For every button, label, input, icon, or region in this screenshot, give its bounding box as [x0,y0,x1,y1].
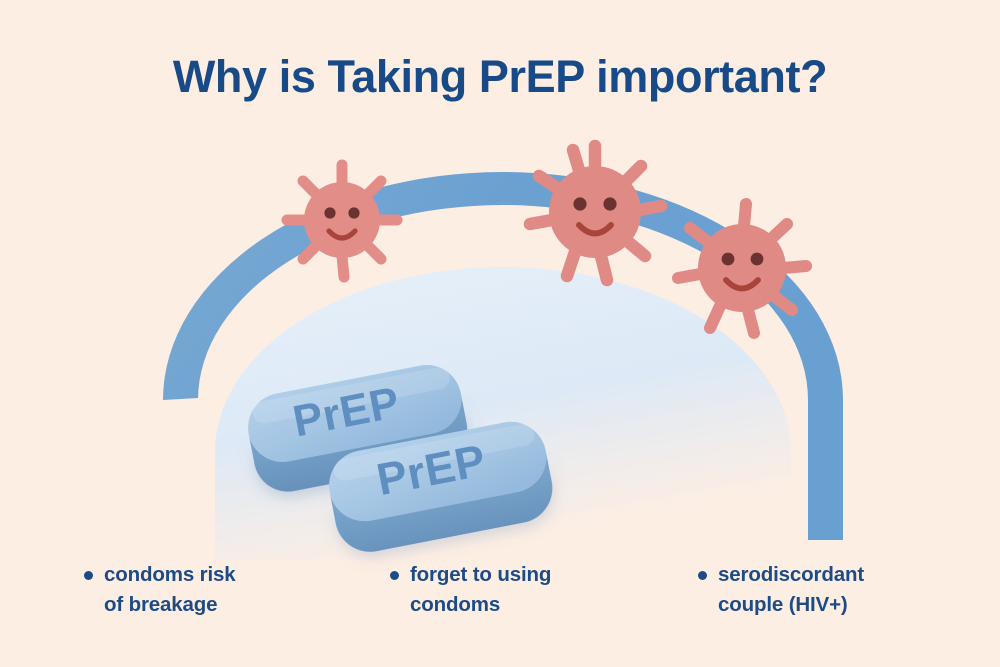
pill-label-2: PrEP [373,434,490,505]
shield-inner-dome [215,267,791,560]
virus-center-icon [530,146,661,280]
bullet-list: condoms risk of breakage forget to using… [0,560,1000,660]
bullet-item-1: condoms risk of breakage [84,560,384,621]
bullet-text-2: forget to using condoms [410,560,551,621]
page-title: Why is Taking PrEP important? [0,52,1000,102]
bullet-dot-icon [390,571,399,580]
bullet-item-2: forget to using condoms [390,560,690,621]
bullet-line-1a: condoms risk [104,563,236,586]
bullet-dot-icon [698,571,707,580]
bullet-line-2a: forget to using [410,563,551,586]
bullet-item-3: serodiscordant couple (HIV+) [698,560,998,621]
pill-label-1: PrEP [289,378,404,447]
shield-arc-band [163,172,843,540]
bullet-dot-icon [84,571,93,580]
virus-right-icon [678,204,806,333]
bullet-line-3a: serodiscordant [718,563,864,586]
bullet-text-1: condoms risk of breakage [104,560,236,621]
bullet-line-2b: condoms [410,593,500,616]
prep-pill-2: PrEP [323,416,558,558]
prep-pill-1: PrEP [242,359,473,497]
bullet-line-3b: couple (HIV+) [718,593,848,616]
infographic-poster: Why is Taking PrEP important? [0,0,1000,667]
bullet-line-1b: of breakage [104,593,217,616]
bullet-text-3: serodiscordant couple (HIV+) [718,560,864,621]
virus-left-icon [287,165,397,277]
